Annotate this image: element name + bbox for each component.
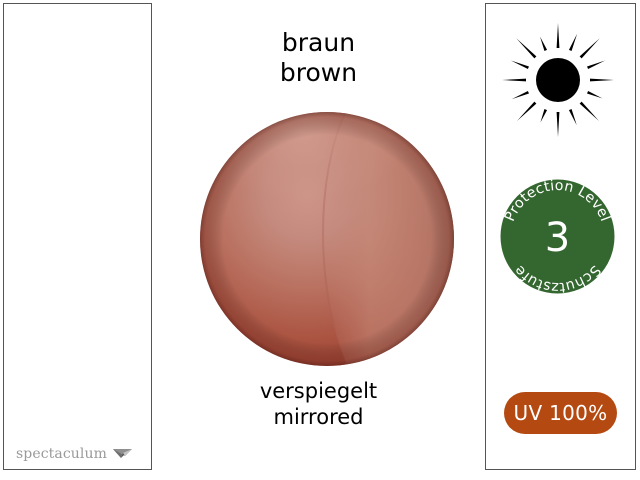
- left-panel: spectaculum: [3, 3, 152, 470]
- lens-sphere-icon: [198, 110, 456, 368]
- product-title: braun brown: [152, 28, 485, 88]
- sun-icon: [502, 20, 614, 138]
- protection-level-badge: Protection Level Schutzstufe 3: [499, 178, 616, 295]
- brand-logo: spectaculum: [16, 447, 134, 461]
- product-caption: verspiegelt mirrored: [152, 378, 485, 430]
- product-card: spectaculum braun brown: [0, 0, 640, 480]
- product-caption-en: mirrored: [152, 404, 485, 430]
- product-title-de: braun: [152, 28, 485, 58]
- center-column: braun brown: [152, 0, 485, 480]
- spectaculum-swoosh-icon: [112, 447, 134, 461]
- uv-protection-label: UV 100%: [514, 403, 608, 423]
- uv-protection-badge: UV 100%: [504, 392, 617, 434]
- product-caption-de: verspiegelt: [152, 378, 485, 404]
- brand-name: spectaculum: [16, 447, 107, 461]
- product-title-en: brown: [152, 58, 485, 88]
- protection-level-value: 3: [545, 215, 570, 261]
